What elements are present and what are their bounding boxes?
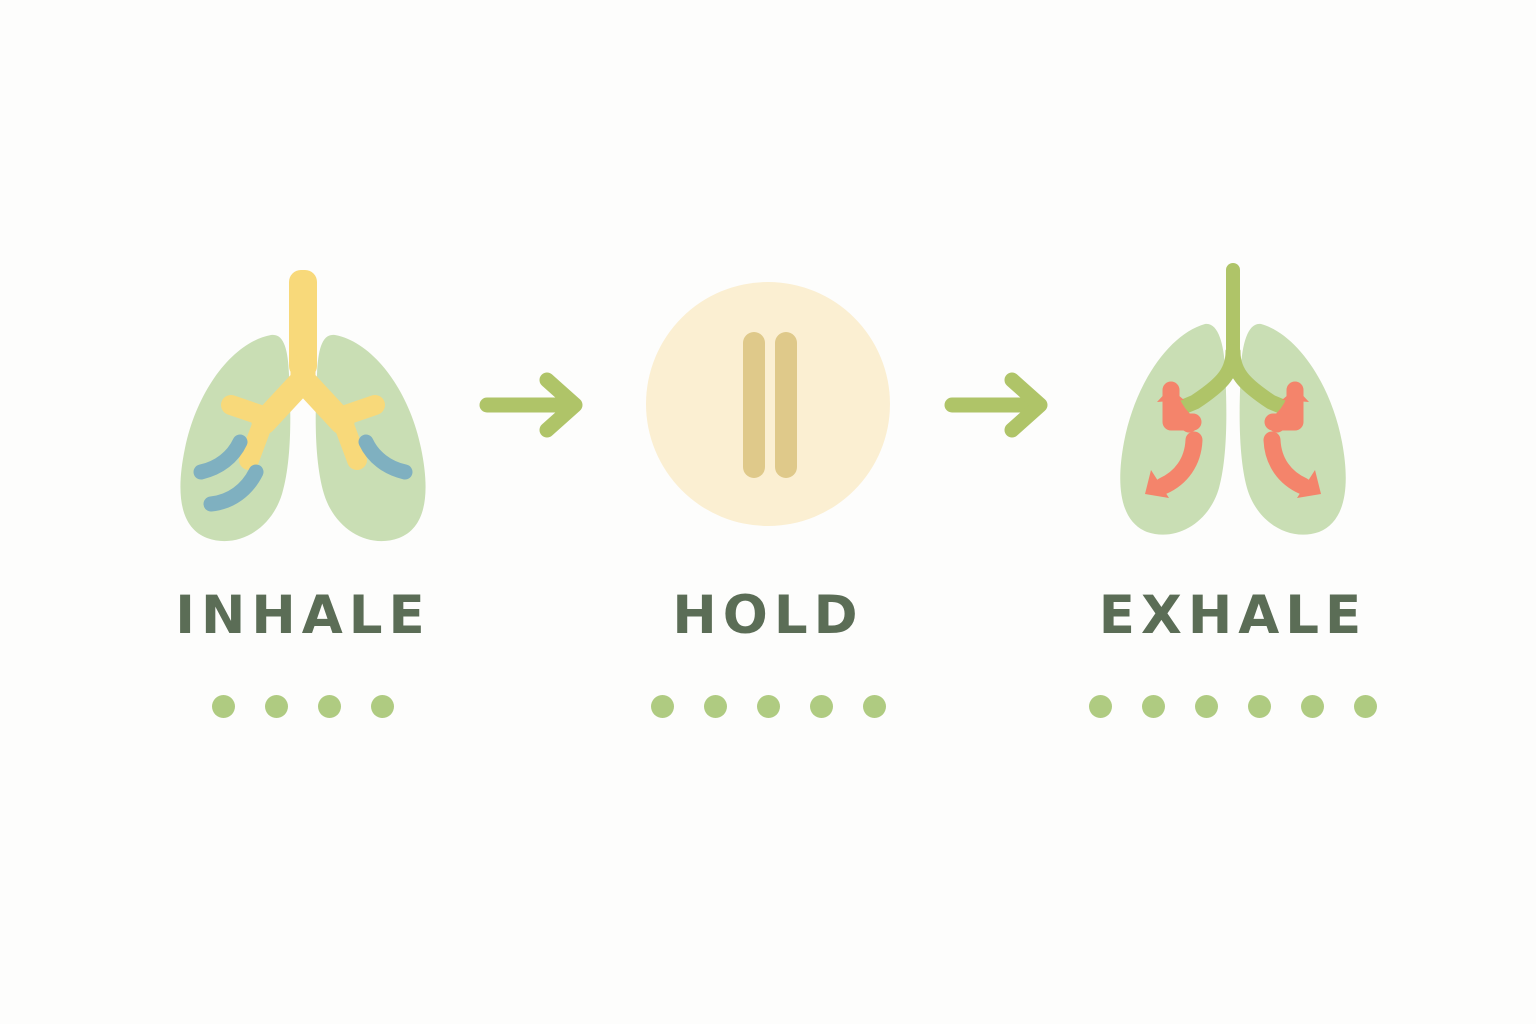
step-exhale-artwork (1083, 262, 1383, 547)
progress-dot (863, 695, 886, 718)
progress-dot (810, 695, 833, 718)
step-hold-artwork (618, 262, 918, 547)
connector-hold-to-exhale (933, 262, 1068, 547)
pause-bar-left (743, 332, 765, 478)
progress-dot (212, 695, 235, 718)
step-hold[interactable]: HOLD (603, 262, 933, 718)
progress-dot (1301, 695, 1324, 718)
right-lower-branch (342, 420, 357, 460)
progress-dot (1195, 695, 1218, 718)
step-hold-dots (651, 694, 886, 718)
progress-dot (1089, 695, 1112, 718)
step-inhale-label: INHALE (175, 589, 430, 642)
progress-dot (265, 695, 288, 718)
arrow-right-icon (471, 360, 601, 450)
pause-circle-icon (618, 262, 918, 547)
progress-dot (318, 695, 341, 718)
step-inhale[interactable]: INHALE (138, 262, 468, 718)
lungs-inhale-icon (153, 262, 453, 547)
connector-inhale-to-hold (468, 262, 603, 547)
hold-circle-background (646, 282, 890, 526)
breathing-step-sequence: INHALE HOLD (0, 262, 1536, 718)
pause-bar-right (775, 332, 797, 478)
progress-dot (757, 695, 780, 718)
step-inhale-artwork (153, 262, 453, 547)
breathing-cycle-infographic: INHALE HOLD (0, 0, 1536, 1024)
progress-dot (1354, 695, 1377, 718)
progress-dot (651, 695, 674, 718)
arrow-right-icon (936, 360, 1066, 450)
progress-dot (371, 695, 394, 718)
progress-dot (704, 695, 727, 718)
lungs-exhale-icon (1083, 262, 1383, 547)
step-hold-label: HOLD (672, 589, 863, 642)
progress-dot (1142, 695, 1165, 718)
step-exhale-label: EXHALE (1099, 589, 1367, 642)
progress-dot (1248, 695, 1271, 718)
step-inhale-dots (212, 694, 394, 718)
left-lower-branch (249, 420, 264, 460)
step-exhale[interactable]: EXHALE (1068, 262, 1398, 718)
step-exhale-dots (1089, 694, 1377, 718)
